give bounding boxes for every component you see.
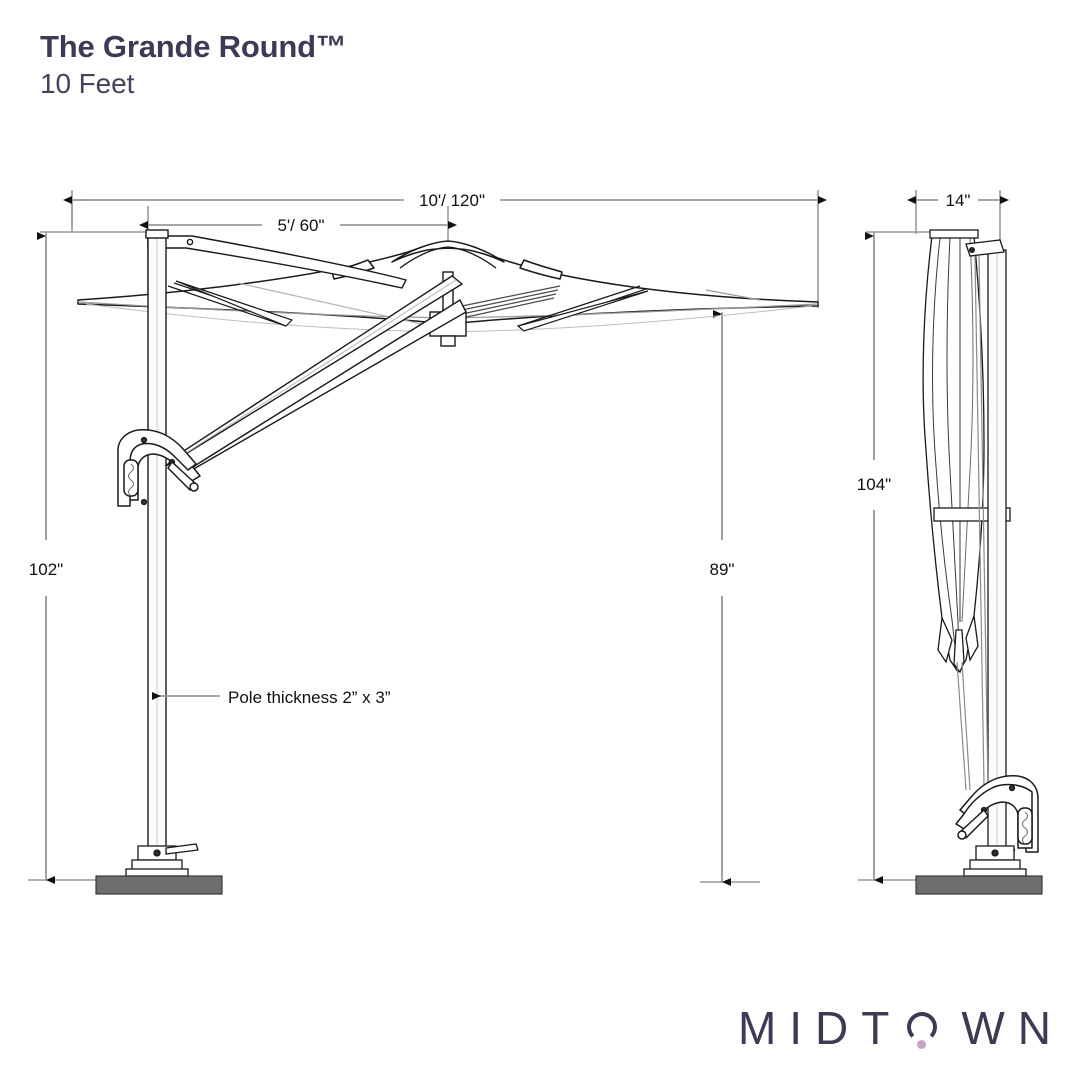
dimension-closed-height-label: 104" [857, 475, 891, 494]
open-umbrella-view: 10'/ 120" 5'/ 60" 102" 89" [28, 190, 818, 894]
dimension-canopy-diameter-label: 10'/ 120" [419, 191, 485, 210]
dimension-pole-height-label: 102" [29, 560, 63, 579]
dimension-canopy-diameter: 10'/ 120" [72, 191, 818, 210]
base-mount [126, 844, 198, 876]
closed-base-assembly [916, 846, 1042, 894]
hub-finial [441, 336, 455, 346]
joint-bolt-bottom [142, 500, 147, 505]
closed-canopy-cap [930, 230, 978, 238]
dimension-closed-width: 14" [916, 191, 1000, 210]
callout-pole-thickness-label: Pole thickness 2” x 3” [228, 688, 391, 707]
brand-logo-text-after: WN [961, 1005, 1064, 1051]
logo-ring-shape [907, 1012, 937, 1042]
dimension-canopy-radius-label: 5'/ 60" [277, 216, 324, 235]
brand-logo-text: MIDT WN [738, 1005, 1064, 1051]
base-bolt [154, 850, 160, 856]
callout-pole-thickness: Pole thickness 2” x 3” [152, 688, 391, 707]
closed-canopy [923, 230, 984, 672]
dimension-canopy-radius: 5'/ 60" [148, 216, 448, 235]
pole [146, 230, 168, 852]
joint-bolt-top [142, 438, 147, 443]
closed-joint-lever-tip [958, 831, 966, 839]
closed-joint-grip [1018, 808, 1032, 844]
closed-base-mount [964, 846, 1026, 876]
closed-base-slab [916, 876, 1042, 894]
dimension-canopy-clearance-label: 89" [710, 560, 735, 579]
closed-pole [988, 250, 1006, 854]
closed-base-bolt [992, 850, 998, 856]
spec-sheet-page: The Grande Round™ 10 Feet [0, 0, 1080, 1080]
joint-grip [124, 460, 138, 496]
dimension-closed-width-label: 14" [946, 191, 971, 210]
closed-base-flange [964, 869, 1026, 876]
closed-canopy-body [923, 236, 984, 672]
brand-logo-o-icon [902, 1005, 948, 1051]
support-arm-lower [178, 300, 466, 478]
brand-logo-text-before: MIDT [738, 1005, 902, 1051]
umbrella-spec-drawing: 10'/ 120" 5'/ 60" 102" 89" [0, 0, 1080, 1080]
base-assembly [96, 844, 222, 894]
base-flange [126, 869, 188, 876]
brand-logo: MIDT WN [738, 998, 1064, 1058]
pole-cap [146, 230, 168, 238]
dimension-canopy-clearance: 89" [710, 314, 735, 882]
dimension-pole-height: 102" [29, 236, 63, 880]
dimension-closed-height: 104" [857, 236, 891, 880]
closed-umbrella-view: 14" 104" [857, 190, 1042, 894]
closed-joint-bolt-top [1010, 786, 1015, 791]
joint-lever-tip [190, 483, 198, 491]
logo-dot-shape [917, 1040, 926, 1049]
upper-arm-pivot [187, 239, 192, 244]
base-slab [96, 876, 222, 894]
